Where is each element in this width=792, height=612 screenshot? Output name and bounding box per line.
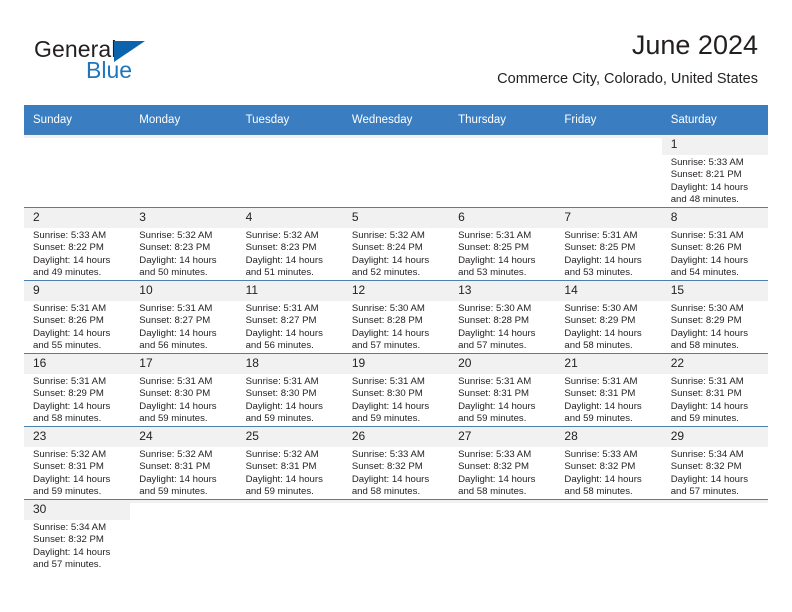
sunset-text: Sunset: 8:29 PM: [33, 388, 124, 400]
sunset-text: Sunset: 8:31 PM: [33, 461, 124, 473]
sunrise-text: Sunrise: 5:31 AM: [246, 303, 337, 315]
daylight-text-cont: and 48 minutes.: [671, 194, 762, 206]
daylight-text: Daylight: 14 hours: [33, 474, 124, 486]
calendar-week-row: 23Sunrise: 5:32 AMSunset: 8:31 PMDayligh…: [24, 427, 768, 500]
sunset-text: Sunset: 8:23 PM: [246, 242, 337, 254]
sunrise-text: Sunrise: 5:33 AM: [458, 449, 549, 461]
daylight-text: Daylight: 14 hours: [33, 255, 124, 267]
daylight-text: Daylight: 14 hours: [564, 401, 655, 413]
weekday-header-saturday: Saturday: [662, 105, 768, 135]
daylight-text: Daylight: 14 hours: [33, 547, 124, 559]
day-sun-info: Sunrise: 5:30 AMSunset: 8:29 PMDaylight:…: [555, 301, 661, 353]
daylight-text: Daylight: 14 hours: [564, 328, 655, 340]
day-number: 9: [24, 281, 130, 301]
sunset-text: Sunset: 8:26 PM: [671, 242, 762, 254]
sunrise-text: Sunrise: 5:30 AM: [671, 303, 762, 315]
sunrise-text: Sunrise: 5:32 AM: [352, 230, 443, 242]
sunset-text: Sunset: 8:29 PM: [564, 315, 655, 327]
calendar-day-cell[interactable]: 29Sunrise: 5:34 AMSunset: 8:32 PMDayligh…: [662, 427, 768, 500]
day-sun-info: Sunrise: 5:31 AMSunset: 8:26 PMDaylight:…: [24, 301, 130, 353]
daylight-text: Daylight: 14 hours: [246, 474, 337, 486]
day-sun-info: Sunrise: 5:31 AMSunset: 8:30 PMDaylight:…: [237, 374, 343, 426]
sunrise-text: Sunrise: 5:34 AM: [671, 449, 762, 461]
sunrise-text: Sunrise: 5:33 AM: [671, 157, 762, 169]
calendar-cell-empty: [343, 135, 449, 208]
calendar-day-cell[interactable]: 4Sunrise: 5:32 AMSunset: 8:23 PMDaylight…: [237, 208, 343, 281]
sunset-text: Sunset: 8:30 PM: [246, 388, 337, 400]
daylight-text: Daylight: 14 hours: [671, 182, 762, 194]
daylight-text-cont: and 53 minutes.: [458, 267, 549, 279]
day-number: 6: [449, 208, 555, 228]
day-sun-info: Sunrise: 5:30 AMSunset: 8:29 PMDaylight:…: [662, 301, 768, 353]
daylight-text-cont: and 50 minutes.: [139, 267, 230, 279]
daylight-text-cont: and 57 minutes.: [352, 340, 443, 352]
day-number: 7: [555, 208, 661, 228]
calendar-day-cell[interactable]: 12Sunrise: 5:30 AMSunset: 8:28 PMDayligh…: [343, 281, 449, 354]
sunset-text: Sunset: 8:32 PM: [352, 461, 443, 473]
day-sun-info: Sunrise: 5:32 AMSunset: 8:23 PMDaylight:…: [237, 228, 343, 280]
day-sun-info: Sunrise: 5:34 AMSunset: 8:32 PMDaylight:…: [24, 520, 130, 572]
day-sun-info: Sunrise: 5:34 AMSunset: 8:32 PMDaylight:…: [662, 447, 768, 499]
day-number: 29: [662, 427, 768, 447]
day-sun-info: Sunrise: 5:31 AMSunset: 8:30 PMDaylight:…: [343, 374, 449, 426]
daylight-text: Daylight: 14 hours: [33, 328, 124, 340]
calendar-cell-empty: [130, 135, 236, 208]
day-number: 26: [343, 427, 449, 447]
daylight-text-cont: and 59 minutes.: [246, 486, 337, 498]
sunset-text: Sunset: 8:32 PM: [564, 461, 655, 473]
calendar-day-cell[interactable]: 19Sunrise: 5:31 AMSunset: 8:30 PMDayligh…: [343, 354, 449, 427]
sunset-text: Sunset: 8:27 PM: [246, 315, 337, 327]
calendar-header-row: Sunday Monday Tuesday Wednesday Thursday…: [24, 105, 768, 135]
calendar-day-cell[interactable]: 21Sunrise: 5:31 AMSunset: 8:31 PMDayligh…: [555, 354, 661, 427]
day-sun-info: Sunrise: 5:31 AMSunset: 8:31 PMDaylight:…: [662, 374, 768, 426]
day-sun-info: Sunrise: 5:33 AMSunset: 8:32 PMDaylight:…: [449, 447, 555, 499]
day-number: 28: [555, 427, 661, 447]
sunrise-text: Sunrise: 5:31 AM: [671, 230, 762, 242]
daylight-text: Daylight: 14 hours: [352, 474, 443, 486]
sunset-text: Sunset: 8:29 PM: [671, 315, 762, 327]
day-number: 15: [662, 281, 768, 301]
day-number: [449, 500, 555, 503]
daylight-text: Daylight: 14 hours: [33, 401, 124, 413]
sunrise-text: Sunrise: 5:31 AM: [352, 376, 443, 388]
day-sun-info: Sunrise: 5:31 AMSunset: 8:25 PMDaylight:…: [555, 228, 661, 280]
sunrise-text: Sunrise: 5:31 AM: [564, 230, 655, 242]
sunrise-text: Sunrise: 5:31 AM: [33, 376, 124, 388]
day-sun-info: Sunrise: 5:31 AMSunset: 8:31 PMDaylight:…: [449, 374, 555, 426]
daylight-text-cont: and 59 minutes.: [246, 413, 337, 425]
daylight-text-cont: and 58 minutes.: [352, 486, 443, 498]
daylight-text: Daylight: 14 hours: [139, 328, 230, 340]
sunset-text: Sunset: 8:27 PM: [139, 315, 230, 327]
calendar-day-cell[interactable]: 9Sunrise: 5:31 AMSunset: 8:26 PMDaylight…: [24, 281, 130, 354]
day-number: 14: [555, 281, 661, 301]
calendar-cell-empty: [24, 135, 130, 208]
title-block: June 2024 Commerce City, Colorado, Unite…: [497, 28, 758, 90]
day-sun-info: Sunrise: 5:31 AMSunset: 8:27 PMDaylight:…: [130, 301, 236, 353]
daylight-text: Daylight: 14 hours: [458, 401, 549, 413]
sunset-text: Sunset: 8:22 PM: [33, 242, 124, 254]
brand-logo[interactable]: General Blue: [34, 36, 274, 92]
page-title: June 2024: [497, 28, 758, 62]
calendar-cell-empty: [237, 500, 343, 573]
sunset-text: Sunset: 8:32 PM: [33, 534, 124, 546]
sunset-text: Sunset: 8:31 PM: [139, 461, 230, 473]
day-number: 4: [237, 208, 343, 228]
calendar-day-cell[interactable]: 28Sunrise: 5:33 AMSunset: 8:32 PMDayligh…: [555, 427, 661, 500]
day-sun-info: Sunrise: 5:33 AMSunset: 8:32 PMDaylight:…: [343, 447, 449, 499]
daylight-text-cont: and 51 minutes.: [246, 267, 337, 279]
sunset-text: Sunset: 8:26 PM: [33, 315, 124, 327]
page-header: General Blue June 2024 Commerce City, Co…: [34, 28, 758, 96]
daylight-text-cont: and 57 minutes.: [458, 340, 549, 352]
daylight-text: Daylight: 14 hours: [139, 474, 230, 486]
daylight-text-cont: and 58 minutes.: [564, 486, 655, 498]
day-number: 3: [130, 208, 236, 228]
daylight-text: Daylight: 14 hours: [671, 328, 762, 340]
daylight-text: Daylight: 14 hours: [564, 255, 655, 267]
calendar-cell-empty: [343, 500, 449, 573]
sunset-text: Sunset: 8:32 PM: [671, 461, 762, 473]
daylight-text-cont: and 52 minutes.: [352, 267, 443, 279]
daylight-text-cont: and 58 minutes.: [458, 486, 549, 498]
day-number: [130, 500, 236, 503]
daylight-text: Daylight: 14 hours: [246, 401, 337, 413]
calendar-cell-empty: [662, 500, 768, 573]
daylight-text: Daylight: 14 hours: [564, 474, 655, 486]
day-number: 24: [130, 427, 236, 447]
daylight-text-cont: and 56 minutes.: [139, 340, 230, 352]
daylight-text-cont: and 58 minutes.: [671, 340, 762, 352]
calendar-cell-empty: [449, 135, 555, 208]
daylight-text: Daylight: 14 hours: [246, 255, 337, 267]
daylight-text-cont: and 59 minutes.: [564, 413, 655, 425]
sunrise-text: Sunrise: 5:33 AM: [352, 449, 443, 461]
calendar-week-row: 30Sunrise: 5:34 AMSunset: 8:32 PMDayligh…: [24, 500, 768, 573]
day-number: 27: [449, 427, 555, 447]
weekday-header-friday: Friday: [555, 105, 661, 135]
sunrise-text: Sunrise: 5:31 AM: [246, 376, 337, 388]
day-sun-info: Sunrise: 5:32 AMSunset: 8:24 PMDaylight:…: [343, 228, 449, 280]
sunrise-text: Sunrise: 5:31 AM: [139, 303, 230, 315]
day-number: [237, 135, 343, 138]
daylight-text: Daylight: 14 hours: [458, 474, 549, 486]
daylight-text: Daylight: 14 hours: [352, 401, 443, 413]
day-sun-info: Sunrise: 5:32 AMSunset: 8:31 PMDaylight:…: [237, 447, 343, 499]
sunset-text: Sunset: 8:28 PM: [352, 315, 443, 327]
daylight-text-cont: and 49 minutes.: [33, 267, 124, 279]
calendar-day-cell[interactable]: 18Sunrise: 5:31 AMSunset: 8:30 PMDayligh…: [237, 354, 343, 427]
sunrise-text: Sunrise: 5:32 AM: [246, 230, 337, 242]
day-number: [130, 135, 236, 138]
calendar-cell-empty: [449, 500, 555, 573]
sunset-text: Sunset: 8:31 PM: [246, 461, 337, 473]
daylight-text-cont: and 55 minutes.: [33, 340, 124, 352]
daylight-text: Daylight: 14 hours: [246, 328, 337, 340]
sunrise-text: Sunrise: 5:31 AM: [33, 303, 124, 315]
daylight-text-cont: and 59 minutes.: [458, 413, 549, 425]
sunrise-text: Sunrise: 5:31 AM: [458, 376, 549, 388]
calendar-day-cell[interactable]: 15Sunrise: 5:30 AMSunset: 8:29 PMDayligh…: [662, 281, 768, 354]
day-number: 20: [449, 354, 555, 374]
daylight-text-cont: and 56 minutes.: [246, 340, 337, 352]
calendar-day-cell[interactable]: 11Sunrise: 5:31 AMSunset: 8:27 PMDayligh…: [237, 281, 343, 354]
calendar-cell-empty: [555, 135, 661, 208]
day-sun-info: Sunrise: 5:31 AMSunset: 8:26 PMDaylight:…: [662, 228, 768, 280]
sunset-text: Sunset: 8:32 PM: [458, 461, 549, 473]
weekday-header-sunday: Sunday: [24, 105, 130, 135]
calendar-week-row: 2Sunrise: 5:33 AMSunset: 8:22 PMDaylight…: [24, 208, 768, 281]
day-number: 22: [662, 354, 768, 374]
calendar-day-cell[interactable]: 16Sunrise: 5:31 AMSunset: 8:29 PMDayligh…: [24, 354, 130, 427]
sunrise-text: Sunrise: 5:31 AM: [458, 230, 549, 242]
day-sun-info: Sunrise: 5:32 AMSunset: 8:31 PMDaylight:…: [24, 447, 130, 499]
sunset-text: Sunset: 8:25 PM: [458, 242, 549, 254]
brand-name-blue: Blue: [86, 57, 132, 84]
daylight-text-cont: and 59 minutes.: [352, 413, 443, 425]
daylight-text-cont: and 58 minutes.: [564, 340, 655, 352]
day-number: 21: [555, 354, 661, 374]
sunrise-text: Sunrise: 5:33 AM: [33, 230, 124, 242]
day-number: [24, 135, 130, 138]
day-sun-info: Sunrise: 5:31 AMSunset: 8:29 PMDaylight:…: [24, 374, 130, 426]
calendar-day-cell[interactable]: 3Sunrise: 5:32 AMSunset: 8:23 PMDaylight…: [130, 208, 236, 281]
daylight-text: Daylight: 14 hours: [458, 328, 549, 340]
daylight-text: Daylight: 14 hours: [458, 255, 549, 267]
day-number: [343, 135, 449, 138]
daylight-text-cont: and 58 minutes.: [33, 413, 124, 425]
day-number: 18: [237, 354, 343, 374]
daylight-text: Daylight: 14 hours: [352, 328, 443, 340]
sunset-text: Sunset: 8:28 PM: [458, 315, 549, 327]
day-number: 13: [449, 281, 555, 301]
sunset-text: Sunset: 8:31 PM: [671, 388, 762, 400]
day-number: 23: [24, 427, 130, 447]
day-number: 16: [24, 354, 130, 374]
calendar-day-cell[interactable]: 23Sunrise: 5:32 AMSunset: 8:31 PMDayligh…: [24, 427, 130, 500]
sunset-text: Sunset: 8:23 PM: [139, 242, 230, 254]
day-number: [555, 135, 661, 138]
sunrise-text: Sunrise: 5:32 AM: [139, 230, 230, 242]
calendar-day-cell[interactable]: 27Sunrise: 5:33 AMSunset: 8:32 PMDayligh…: [449, 427, 555, 500]
sunrise-text: Sunrise: 5:32 AM: [33, 449, 124, 461]
sunrise-text: Sunrise: 5:31 AM: [139, 376, 230, 388]
day-number: [555, 500, 661, 503]
day-number: 2: [24, 208, 130, 228]
calendar-day-cell[interactable]: 14Sunrise: 5:30 AMSunset: 8:29 PMDayligh…: [555, 281, 661, 354]
day-number: [237, 500, 343, 503]
calendar-cell-empty: [555, 500, 661, 573]
daylight-text-cont: and 59 minutes.: [139, 486, 230, 498]
calendar-day-cell[interactable]: 2Sunrise: 5:33 AMSunset: 8:22 PMDaylight…: [24, 208, 130, 281]
sunrise-text: Sunrise: 5:30 AM: [458, 303, 549, 315]
calendar-day-cell[interactable]: 17Sunrise: 5:31 AMSunset: 8:30 PMDayligh…: [130, 354, 236, 427]
day-number: 25: [237, 427, 343, 447]
day-number: [343, 500, 449, 503]
weekday-header-monday: Monday: [130, 105, 236, 135]
sunset-text: Sunset: 8:30 PM: [352, 388, 443, 400]
day-sun-info: Sunrise: 5:31 AMSunset: 8:31 PMDaylight:…: [555, 374, 661, 426]
sunset-text: Sunset: 8:25 PM: [564, 242, 655, 254]
day-number: [662, 500, 768, 503]
daylight-text-cont: and 59 minutes.: [139, 413, 230, 425]
calendar-week-row: 9Sunrise: 5:31 AMSunset: 8:26 PMDaylight…: [24, 281, 768, 354]
day-number: 10: [130, 281, 236, 301]
calendar-day-cell[interactable]: 30Sunrise: 5:34 AMSunset: 8:32 PMDayligh…: [24, 500, 130, 573]
day-number: [449, 135, 555, 138]
calendar-day-cell[interactable]: 26Sunrise: 5:33 AMSunset: 8:32 PMDayligh…: [343, 427, 449, 500]
day-sun-info: Sunrise: 5:32 AMSunset: 8:31 PMDaylight:…: [130, 447, 236, 499]
calendar-day-cell[interactable]: 22Sunrise: 5:31 AMSunset: 8:31 PMDayligh…: [662, 354, 768, 427]
calendar-week-row: 1Sunrise: 5:33 AMSunset: 8:21 PMDaylight…: [24, 135, 768, 208]
daylight-text: Daylight: 14 hours: [139, 401, 230, 413]
calendar-body: 1Sunrise: 5:33 AMSunset: 8:21 PMDaylight…: [24, 135, 768, 573]
sunrise-text: Sunrise: 5:33 AM: [564, 449, 655, 461]
sunrise-text: Sunrise: 5:30 AM: [564, 303, 655, 315]
calendar-day-cell[interactable]: 8Sunrise: 5:31 AMSunset: 8:26 PMDaylight…: [662, 208, 768, 281]
daylight-text: Daylight: 14 hours: [671, 255, 762, 267]
daylight-text: Daylight: 14 hours: [671, 474, 762, 486]
calendar-day-cell[interactable]: 20Sunrise: 5:31 AMSunset: 8:31 PMDayligh…: [449, 354, 555, 427]
day-number: 8: [662, 208, 768, 228]
day-sun-info: Sunrise: 5:30 AMSunset: 8:28 PMDaylight:…: [449, 301, 555, 353]
calendar-table: Sunday Monday Tuesday Wednesday Thursday…: [24, 105, 768, 572]
calendar-day-cell[interactable]: 25Sunrise: 5:32 AMSunset: 8:31 PMDayligh…: [237, 427, 343, 500]
daylight-text-cont: and 57 minutes.: [33, 559, 124, 571]
day-number: 12: [343, 281, 449, 301]
weekday-header-thursday: Thursday: [449, 105, 555, 135]
daylight-text: Daylight: 14 hours: [352, 255, 443, 267]
sunset-text: Sunset: 8:31 PM: [458, 388, 549, 400]
sunrise-text: Sunrise: 5:32 AM: [246, 449, 337, 461]
daylight-text-cont: and 54 minutes.: [671, 267, 762, 279]
sunset-text: Sunset: 8:30 PM: [139, 388, 230, 400]
day-sun-info: Sunrise: 5:31 AMSunset: 8:30 PMDaylight:…: [130, 374, 236, 426]
daylight-text-cont: and 59 minutes.: [33, 486, 124, 498]
calendar-week-row: 16Sunrise: 5:31 AMSunset: 8:29 PMDayligh…: [24, 354, 768, 427]
weekday-header-wednesday: Wednesday: [343, 105, 449, 135]
day-sun-info: Sunrise: 5:33 AMSunset: 8:22 PMDaylight:…: [24, 228, 130, 280]
day-sun-info: Sunrise: 5:31 AMSunset: 8:25 PMDaylight:…: [449, 228, 555, 280]
calendar-day-cell[interactable]: 5Sunrise: 5:32 AMSunset: 8:24 PMDaylight…: [343, 208, 449, 281]
sunrise-text: Sunrise: 5:31 AM: [671, 376, 762, 388]
daylight-text-cont: and 57 minutes.: [671, 486, 762, 498]
calendar-day-cell[interactable]: 13Sunrise: 5:30 AMSunset: 8:28 PMDayligh…: [449, 281, 555, 354]
daylight-text: Daylight: 14 hours: [139, 255, 230, 267]
calendar-page: General Blue June 2024 Commerce City, Co…: [0, 0, 792, 612]
day-sun-info: Sunrise: 5:33 AMSunset: 8:32 PMDaylight:…: [555, 447, 661, 499]
sunrise-text: Sunrise: 5:32 AM: [139, 449, 230, 461]
day-sun-info: Sunrise: 5:31 AMSunset: 8:27 PMDaylight:…: [237, 301, 343, 353]
daylight-text-cont: and 53 minutes.: [564, 267, 655, 279]
day-number: 17: [130, 354, 236, 374]
day-sun-info: Sunrise: 5:33 AMSunset: 8:21 PMDaylight:…: [662, 155, 768, 207]
calendar-cell-empty: [130, 500, 236, 573]
sunset-text: Sunset: 8:24 PM: [352, 242, 443, 254]
sunrise-text: Sunrise: 5:34 AM: [33, 522, 124, 534]
day-number: 1: [662, 135, 768, 155]
sunrise-text: Sunrise: 5:30 AM: [352, 303, 443, 315]
day-number: 30: [24, 500, 130, 520]
sunset-text: Sunset: 8:21 PM: [671, 169, 762, 181]
day-number: 11: [237, 281, 343, 301]
calendar-day-cell[interactable]: 7Sunrise: 5:31 AMSunset: 8:25 PMDaylight…: [555, 208, 661, 281]
daylight-text: Daylight: 14 hours: [671, 401, 762, 413]
day-sun-info: Sunrise: 5:30 AMSunset: 8:28 PMDaylight:…: [343, 301, 449, 353]
calendar-day-cell[interactable]: 6Sunrise: 5:31 AMSunset: 8:25 PMDaylight…: [449, 208, 555, 281]
sunrise-text: Sunrise: 5:31 AM: [564, 376, 655, 388]
calendar-day-cell[interactable]: 24Sunrise: 5:32 AMSunset: 8:31 PMDayligh…: [130, 427, 236, 500]
daylight-text-cont: and 59 minutes.: [671, 413, 762, 425]
weekday-header-tuesday: Tuesday: [237, 105, 343, 135]
sunset-text: Sunset: 8:31 PM: [564, 388, 655, 400]
day-number: 19: [343, 354, 449, 374]
day-sun-info: Sunrise: 5:32 AMSunset: 8:23 PMDaylight:…: [130, 228, 236, 280]
calendar-day-cell[interactable]: 10Sunrise: 5:31 AMSunset: 8:27 PMDayligh…: [130, 281, 236, 354]
calendar-cell-empty: [237, 135, 343, 208]
location-subtitle: Commerce City, Colorado, United States: [497, 68, 758, 90]
day-number: 5: [343, 208, 449, 228]
calendar-day-cell[interactable]: 1Sunrise: 5:33 AMSunset: 8:21 PMDaylight…: [662, 135, 768, 208]
